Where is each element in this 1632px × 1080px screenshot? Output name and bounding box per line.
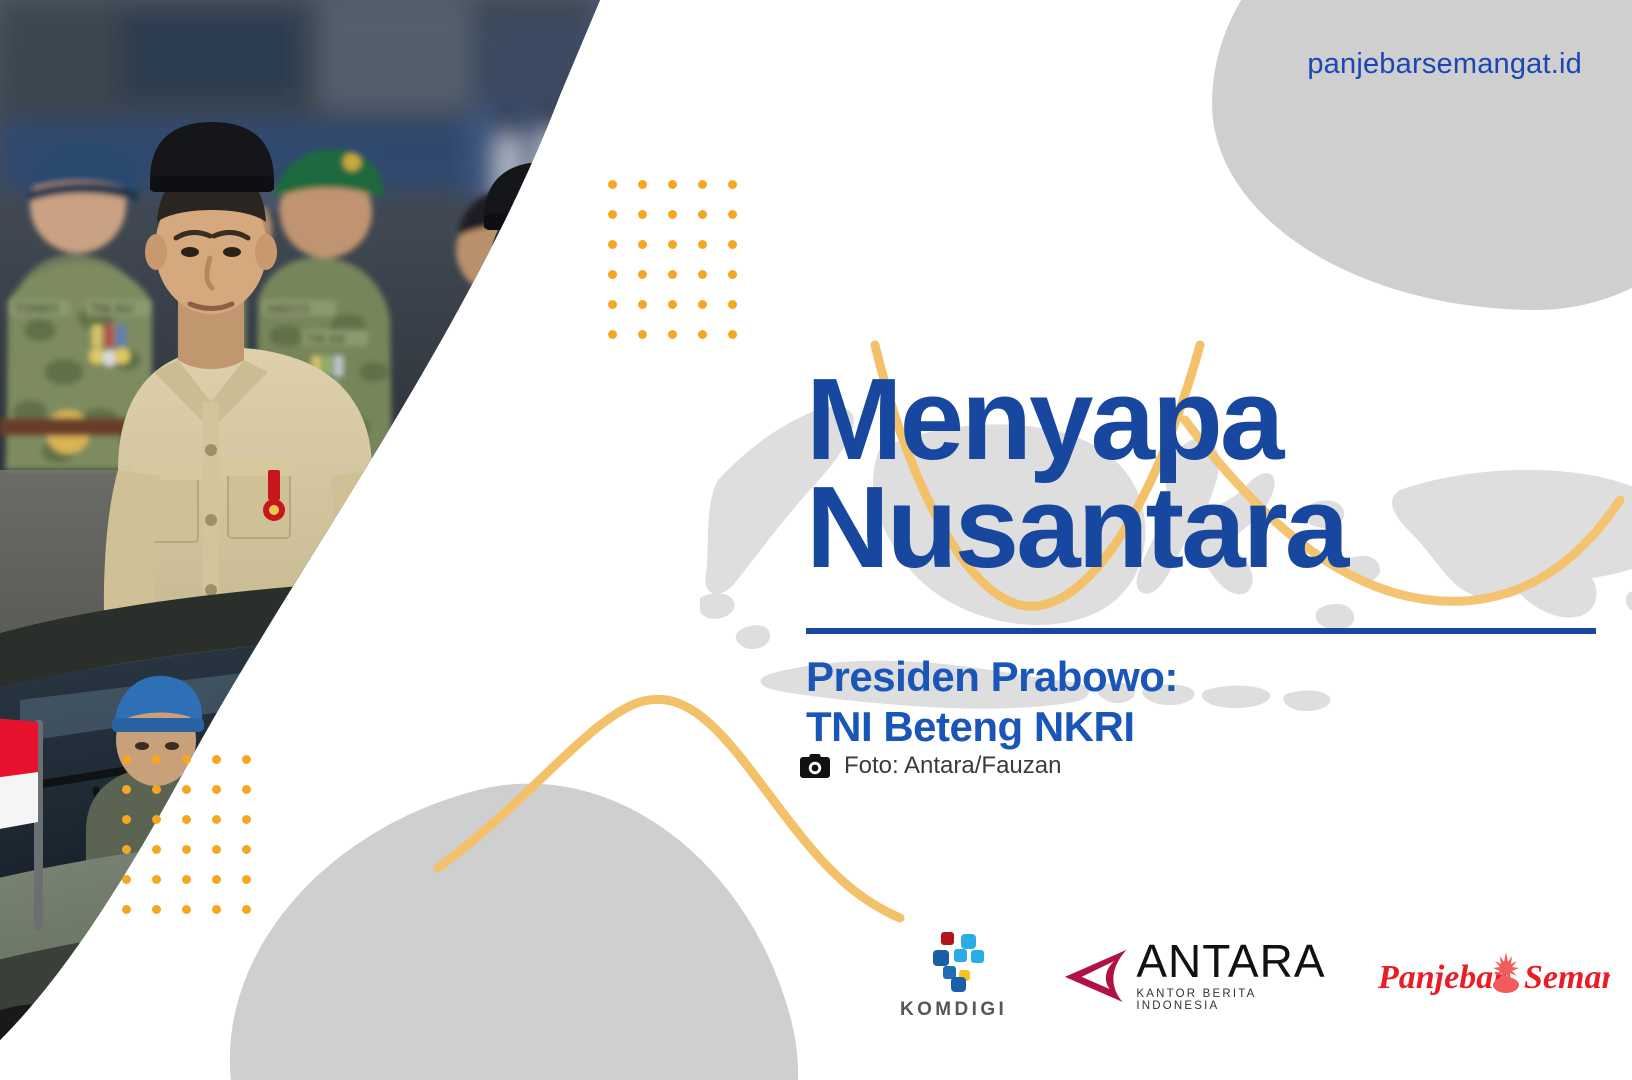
- decorative-blob-top-right: [1212, 0, 1632, 310]
- logo-komdigi: KOMDIGI: [900, 930, 1007, 1021]
- logo-antara: ANTARA KANTOR BERITA INDONESIA: [1063, 938, 1330, 1012]
- antara-wordmark: ANTARA: [1136, 938, 1330, 984]
- page-subtitle: Presiden Prabowo: TNI Beteng NKRI: [806, 652, 1526, 751]
- komdigi-icon: [921, 930, 987, 992]
- photo-credit-text: Foto: Antara/Fauzan: [844, 752, 1061, 780]
- site-url[interactable]: panjebarsemangat.id: [1307, 48, 1582, 81]
- title-divider: [806, 628, 1596, 634]
- logo-panjebar-semangat: Panjebar Semangat: [1378, 944, 1610, 1006]
- komdigi-wordmark: KOMDIGI: [900, 999, 1007, 1021]
- photo-credit: Foto: Antara/Fauzan: [800, 752, 1061, 780]
- page-title: Menyapa Nusantara: [806, 366, 1606, 582]
- poster-canvas: TONNY TNI AU: [0, 0, 1632, 1080]
- page-title-line2: Nusantara: [806, 474, 1606, 582]
- panjebar-semangat-icon: Panjebar Semangat: [1378, 944, 1610, 1006]
- page-subtitle-line2: TNI Beteng NKRI: [806, 702, 1526, 752]
- svg-text:TONNY: TONNY: [14, 301, 60, 316]
- page-subtitle-line1: Presiden Prabowo:: [806, 653, 1178, 700]
- svg-text:Panjebar: Panjebar: [1378, 959, 1507, 996]
- svg-text:ANDYO: ANDYO: [266, 302, 309, 316]
- antara-tagline: KANTOR BERITA INDONESIA: [1136, 988, 1330, 1012]
- svg-text:TNI AD: TNI AD: [306, 332, 346, 346]
- logo-strip: KOMDIGI ANTARA KANTOR BERITA INDONESIA P…: [900, 925, 1560, 1025]
- antara-icon: [1063, 944, 1130, 1006]
- camera-icon: [800, 754, 830, 778]
- svg-text:Semangat: Semangat: [1524, 959, 1610, 996]
- svg-text:TNI AU: TNI AU: [90, 301, 133, 316]
- svg-text:AD: AD: [468, 337, 486, 351]
